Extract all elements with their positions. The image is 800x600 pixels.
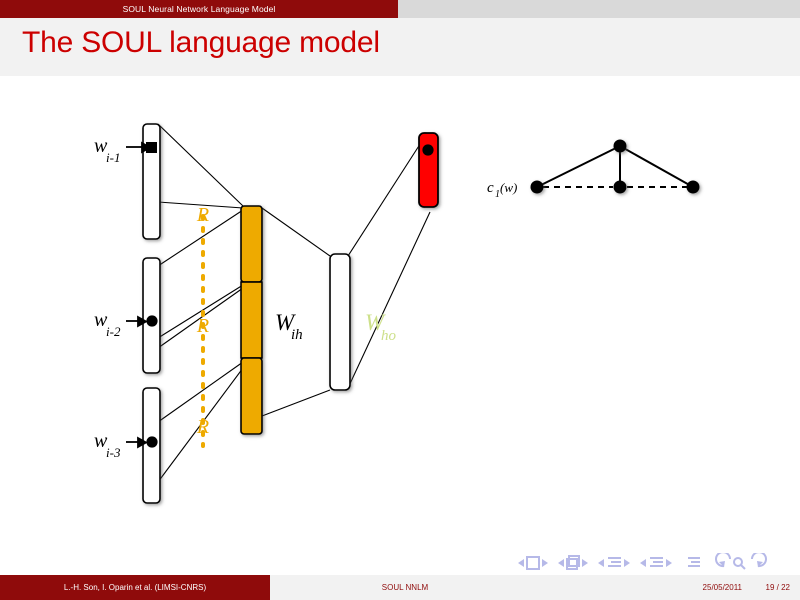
tree-solid-edges bbox=[537, 146, 693, 187]
section-prev-icon bbox=[640, 559, 646, 567]
projection-to-hidden-edges bbox=[262, 208, 330, 416]
weight-ho-sub: ho bbox=[381, 328, 397, 344]
back-icon bbox=[716, 553, 730, 567]
beamer-navigation-bar[interactable] bbox=[0, 551, 800, 575]
projection-segment-2 bbox=[241, 282, 262, 358]
input-label-1-sub: i-1 bbox=[106, 150, 120, 165]
projection-layer bbox=[241, 206, 262, 434]
projection-segment-1 bbox=[241, 206, 262, 282]
R-label-3: R bbox=[196, 416, 209, 438]
page-title: The SOUL language model bbox=[22, 26, 380, 60]
tree-node-leaf-2 bbox=[614, 181, 627, 194]
input-labels: w i-1 w i-2 w i-3 bbox=[94, 135, 121, 460]
weight-ih-sub: ih bbox=[291, 327, 303, 343]
tree-nodes bbox=[531, 140, 700, 194]
hidden-to-output-edges bbox=[348, 138, 430, 388]
section-next-icon bbox=[666, 559, 672, 567]
subsection-next-icon bbox=[624, 559, 630, 567]
output-layer-box bbox=[419, 133, 438, 207]
input-marker-circle-2 bbox=[146, 315, 157, 326]
frame-next-icon bbox=[582, 559, 588, 567]
tree-label-arg: (w) bbox=[500, 180, 517, 195]
projection-segment-3 bbox=[241, 358, 262, 434]
slide-prev-icon bbox=[518, 559, 524, 567]
section-icon bbox=[650, 558, 663, 566]
tree-node-root bbox=[614, 140, 627, 153]
input-label-3-sub: i-3 bbox=[106, 445, 121, 460]
footer-bar: L.-H. Son, I. Oparin et al. (LIMSI-CNRS)… bbox=[0, 575, 800, 600]
tree-node-leaf-3 bbox=[687, 181, 700, 194]
footer-page-number: 19 / 22 bbox=[766, 575, 790, 600]
slide-next-icon bbox=[542, 559, 548, 567]
tree-node-leaf-1 bbox=[531, 181, 544, 194]
header-bar: SOUL Neural Network Language Model bbox=[0, 0, 800, 18]
subsection-icon bbox=[608, 558, 621, 566]
R-label-1: R bbox=[196, 204, 209, 226]
header-section-tab: SOUL Neural Network Language Model bbox=[0, 0, 398, 18]
hidden-layer-box bbox=[330, 254, 350, 390]
tree-label: c 1 (w) bbox=[487, 180, 517, 200]
class-tree-diagram: c 1 (w) bbox=[487, 140, 700, 201]
footer-subject: SOUL NNLM bbox=[270, 575, 540, 600]
input-label-2-sub: i-2 bbox=[106, 324, 121, 339]
slide-frame-icon bbox=[527, 557, 539, 569]
tree-label-base: c bbox=[487, 180, 494, 196]
subsection-prev-icon bbox=[598, 559, 604, 567]
forward-icon bbox=[752, 553, 766, 567]
footer-date: 25/05/2011 bbox=[703, 575, 742, 600]
input-box-1 bbox=[143, 124, 160, 239]
R-label-2: R bbox=[196, 315, 209, 337]
search-icon bbox=[734, 558, 745, 569]
frame-prev-icon bbox=[558, 559, 564, 567]
document-icon bbox=[688, 558, 700, 566]
footer-right: 25/05/2011 19 / 22 bbox=[540, 575, 800, 600]
output-marker-circle bbox=[422, 144, 433, 155]
slide-body: w i-1 w i-2 w i-3 R R R bbox=[0, 76, 800, 571]
footer-authors: L.-H. Son, I. Oparin et al. (LIMSI-CNRS) bbox=[0, 575, 270, 600]
soul-architecture-figure: w i-1 w i-2 w i-3 R R R bbox=[0, 76, 800, 571]
input-marker-circle-3 bbox=[146, 436, 157, 447]
title-area: The SOUL language model bbox=[0, 18, 800, 76]
